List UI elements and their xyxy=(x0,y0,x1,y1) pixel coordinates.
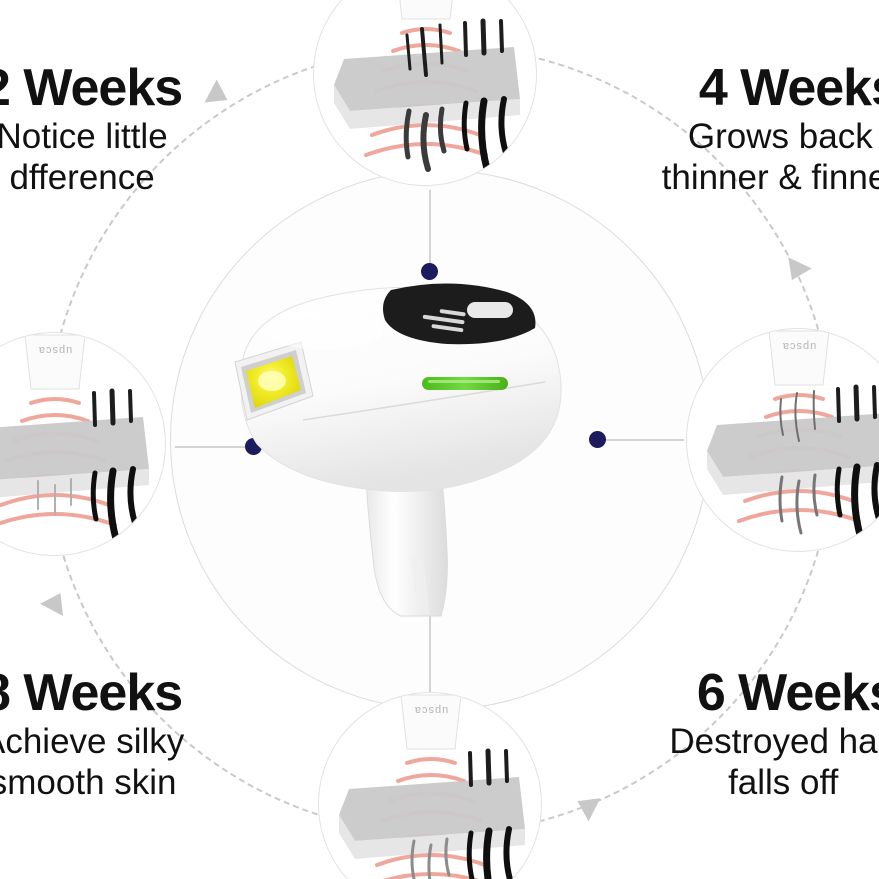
label-weeks: 4 Weeks xyxy=(662,60,879,116)
label-step-4-weeks: 4 Weeks Grows back thinner & finner xyxy=(662,60,879,198)
label-weeks: 2 Weeks xyxy=(0,60,182,116)
ipl-handset-illustration xyxy=(215,258,585,618)
thumb-logo-text: upsca xyxy=(414,704,448,716)
label-desc-line1: Notice little xyxy=(0,116,182,157)
label-desc-line2: thinner & finner xyxy=(662,157,879,198)
label-step-6-weeks: 6 Weeks Destroyed hair falls off xyxy=(669,665,879,803)
label-desc-line2: falls off xyxy=(669,762,879,803)
label-desc-line1: Grows back xyxy=(662,116,879,157)
label-desc-line2: dfference xyxy=(0,157,182,198)
connector-stem-right xyxy=(600,439,684,441)
connector-stem-bottom xyxy=(429,612,431,697)
thumb-logo-text: upsca xyxy=(782,340,816,352)
label-step-2-weeks: 2 Weeks Notice little dfference xyxy=(0,60,182,198)
label-weeks: 8 Weeks xyxy=(0,665,184,721)
label-desc-line1: Achieve silky xyxy=(0,721,184,762)
ipl-timeline-infographic: upsca xyxy=(0,0,879,879)
central-device[interactable] xyxy=(215,258,585,618)
flow-arrow-bottom-left xyxy=(40,587,72,616)
label-desc-line2: smooth skin xyxy=(0,762,184,803)
label-desc-line1: Destroyed hair xyxy=(669,721,879,762)
thumb-logo-text: upsca xyxy=(38,344,72,356)
label-weeks: 6 Weeks xyxy=(669,665,879,721)
connector-dot-right xyxy=(589,431,606,448)
label-step-8-weeks: 8 Weeks Achieve silky smooth skin xyxy=(0,665,184,803)
